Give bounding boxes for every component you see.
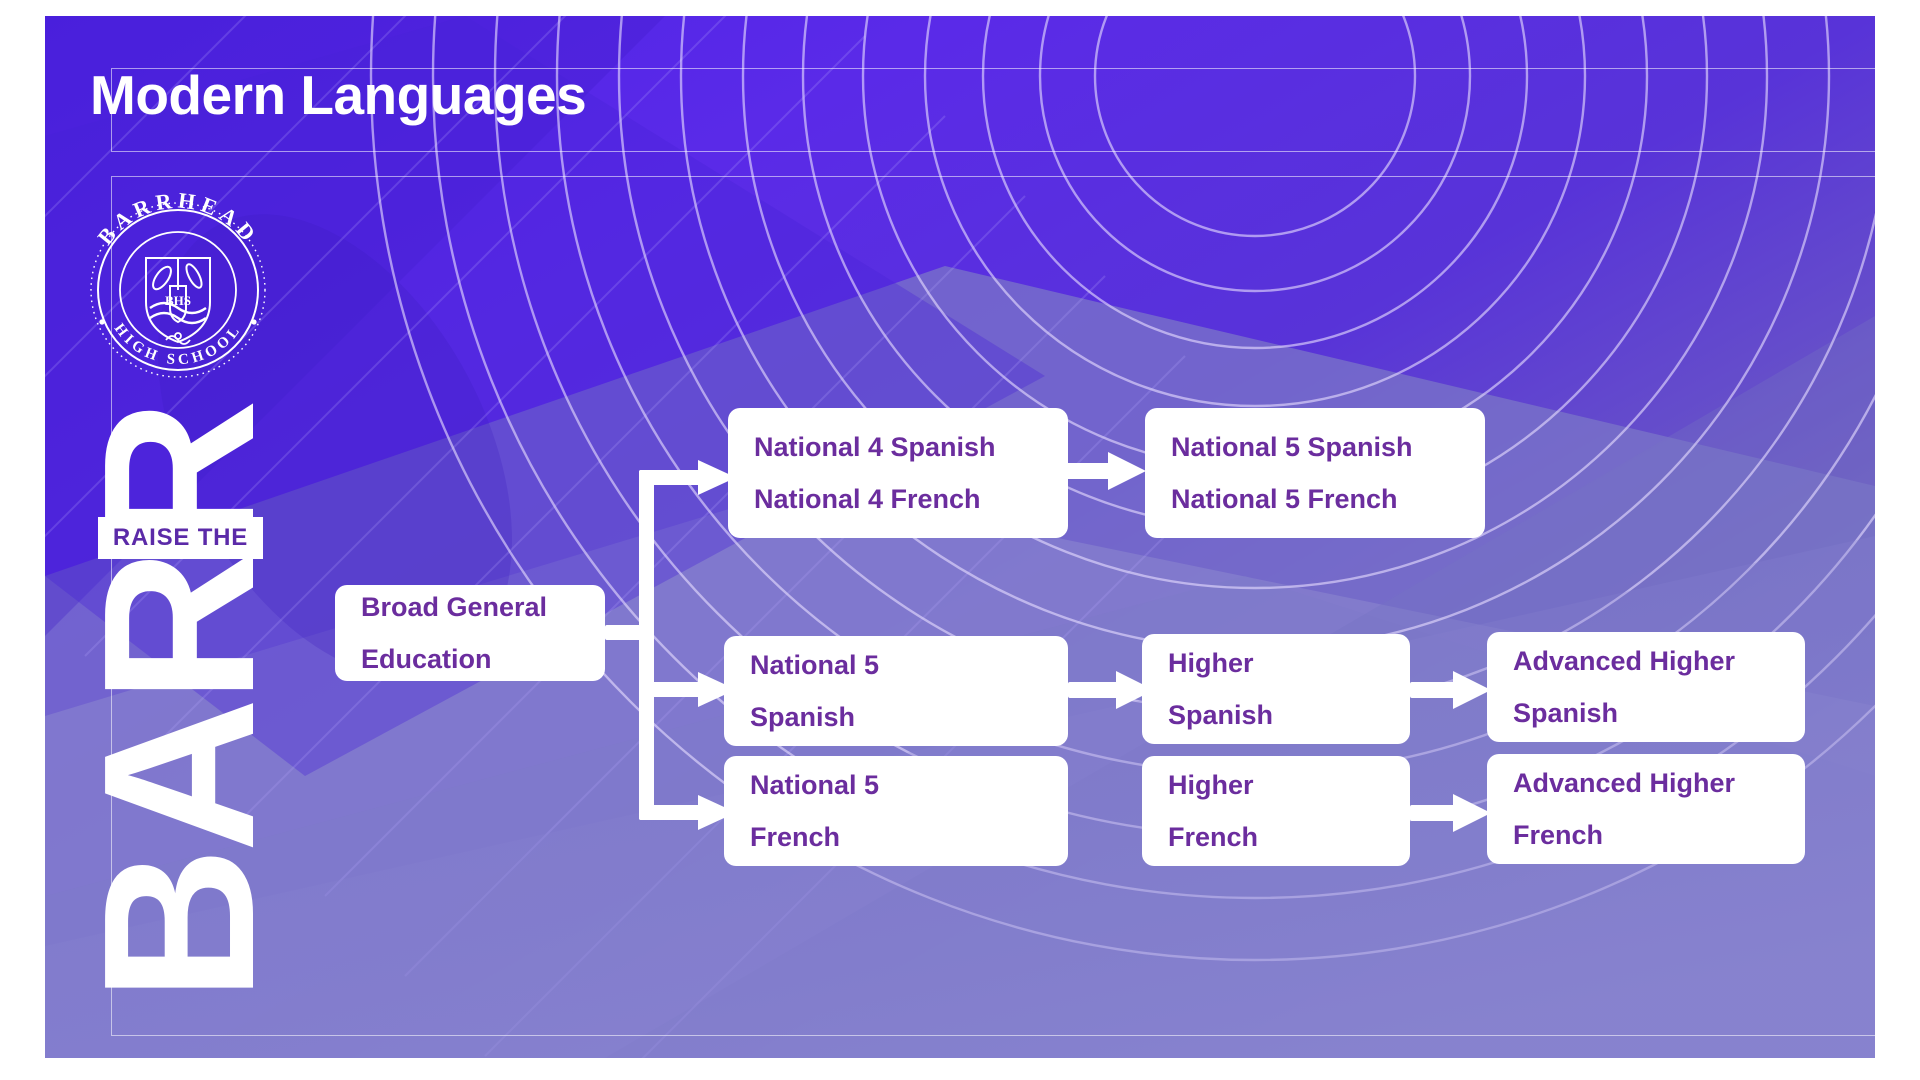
node-line: Spanish: [1168, 689, 1384, 741]
node-advanced-higher-spanish[interactable]: Advanced Higher Spanish: [1487, 632, 1805, 742]
node-line: Broad General: [361, 581, 547, 633]
node-line: French: [750, 811, 1042, 863]
node-line: Spanish: [1513, 687, 1779, 739]
node-advanced-higher-french[interactable]: Advanced Higher French: [1487, 754, 1805, 864]
node-line: National 4 Spanish: [754, 421, 1042, 473]
node-line: Higher: [1168, 637, 1384, 689]
flow-connectors: [0, 0, 1920, 1080]
node-line: National 5: [750, 759, 1042, 811]
node-national-5-spanish[interactable]: National 5 Spanish: [724, 636, 1068, 746]
node-line: French: [1513, 809, 1779, 861]
node-line: French: [1168, 811, 1384, 863]
node-line: National 5: [750, 639, 1042, 691]
node-line: Advanced Higher: [1513, 635, 1779, 687]
node-line: Education: [361, 633, 492, 685]
node-line: National 5 French: [1171, 473, 1459, 525]
node-broad-general-education[interactable]: Broad General Education: [335, 585, 605, 681]
node-line: National 5 Spanish: [1171, 421, 1459, 473]
node-line: Advanced Higher: [1513, 757, 1779, 809]
node-national-5-spanish-french[interactable]: National 5 Spanish National 5 French: [1145, 408, 1485, 538]
node-national-4[interactable]: National 4 Spanish National 4 French: [728, 408, 1068, 538]
node-line: National 4 French: [754, 473, 1042, 525]
node-line: Spanish: [750, 691, 1042, 743]
node-higher-french[interactable]: Higher French: [1142, 756, 1410, 866]
node-higher-spanish[interactable]: Higher Spanish: [1142, 634, 1410, 744]
node-line: Higher: [1168, 759, 1384, 811]
slide-canvas: Modern Languages BARRHEAD HIGH SCHOOL: [0, 0, 1920, 1080]
node-national-5-french[interactable]: National 5 French: [724, 756, 1068, 866]
